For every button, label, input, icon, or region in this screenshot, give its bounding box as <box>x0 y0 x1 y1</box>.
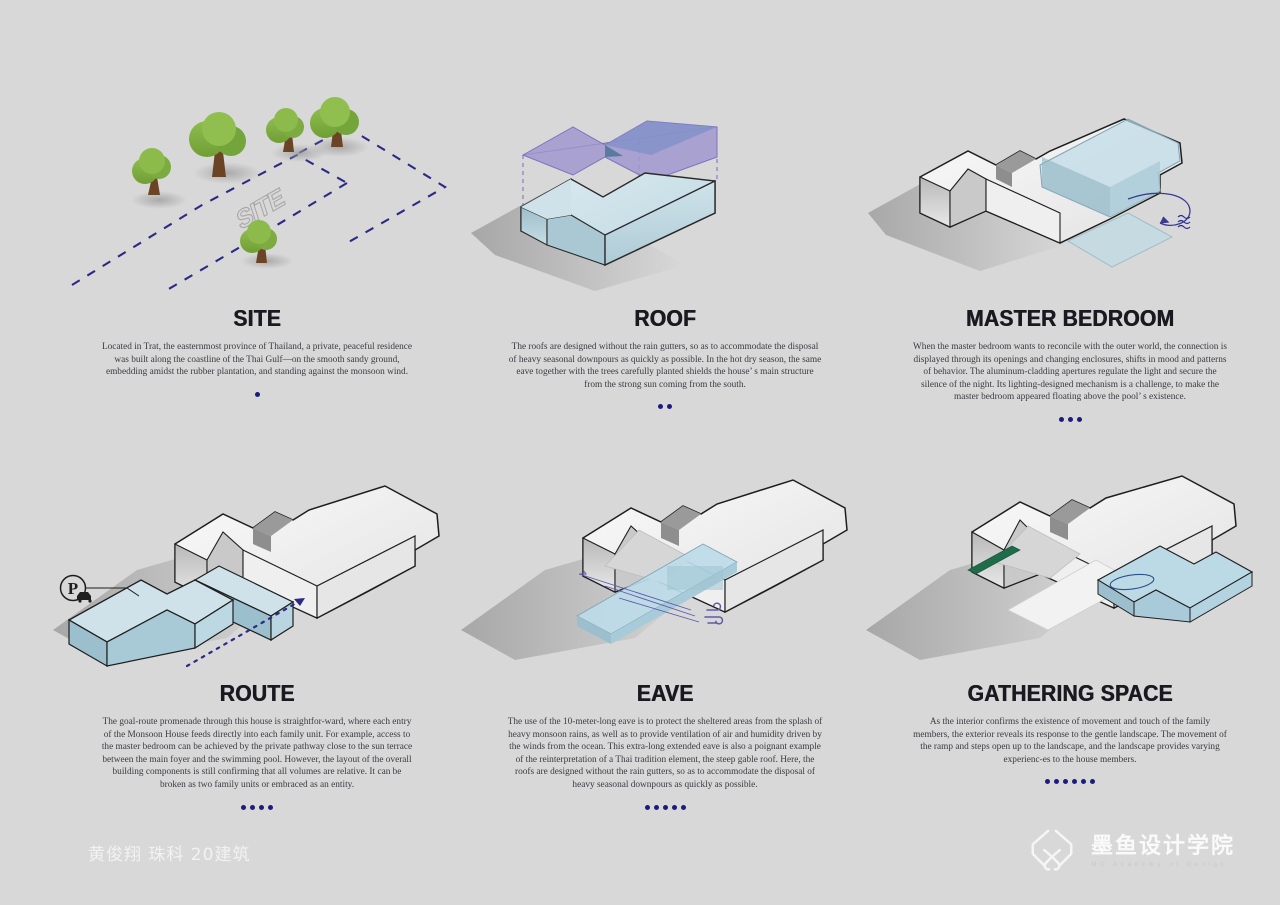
panel-body: Located in Trat, the easternmost provinc… <box>100 341 415 379</box>
panel-roof: ROOF The roofs are designed without the … <box>455 95 875 409</box>
figure-route: P <box>47 470 467 670</box>
cuttlefish-logo-icon <box>1023 825 1081 877</box>
panel-body: The goal-route promenade through this ho… <box>100 716 415 792</box>
brand-text: 墨鱼设计学院 MO Academy of Design <box>1091 835 1235 868</box>
brand-name-cn: 墨鱼设计学院 <box>1091 835 1235 859</box>
step-dots-1 <box>47 392 467 397</box>
roof-plane-icon <box>523 121 717 181</box>
panel-master-bedroom: MASTER BEDROOM When the master bedroom w… <box>860 95 1280 422</box>
panel-title: ROUTE <box>64 680 450 707</box>
panel-eave: EAVE The use of the 10-meter-long eave i… <box>455 470 875 810</box>
car-icon <box>77 592 92 603</box>
step-dots-3 <box>860 417 1280 422</box>
svg-text:P: P <box>68 579 78 598</box>
panel-title: GATHERING SPACE <box>877 680 1263 707</box>
figure-roof <box>455 95 875 295</box>
step-dots-4 <box>47 805 467 810</box>
figure-eave <box>455 470 875 670</box>
figure-site: SITE <box>47 95 467 295</box>
panel-body: The use of the 10-meter-long eave is to … <box>508 716 823 792</box>
figure-gathering-space <box>860 470 1280 670</box>
panel-body: When the master bedroom wants to reconci… <box>913 341 1228 404</box>
panel-site: SITE <box>47 95 467 397</box>
figure-master-bedroom <box>860 95 1280 295</box>
brand-name-en: MO Academy of Design <box>1091 861 1235 868</box>
panel-title: ROOF <box>472 305 858 332</box>
panel-title: MASTER BEDROOM <box>877 305 1263 332</box>
panel-body: As the interior confirms the existence o… <box>913 716 1228 766</box>
author-credit: 黄俊翔 珠科 20建筑 <box>88 840 250 865</box>
panel-gathering-space: GATHERING SPACE As the interior confirms… <box>860 470 1280 784</box>
brand-logo: 墨鱼设计学院 MO Academy of Design <box>1023 825 1235 877</box>
step-dots-2 <box>455 404 875 409</box>
panel-title: EAVE <box>472 680 858 707</box>
step-dots-5 <box>455 805 875 810</box>
panel-title: SITE <box>64 305 450 332</box>
step-dots-6 <box>860 779 1280 784</box>
presentation-board: SITE <box>0 0 1280 905</box>
wind-icon <box>705 603 722 624</box>
panel-body: The roofs are designed without the rain … <box>508 341 823 391</box>
panel-route: P ROUTE The goal-route promenade through… <box>47 470 467 810</box>
